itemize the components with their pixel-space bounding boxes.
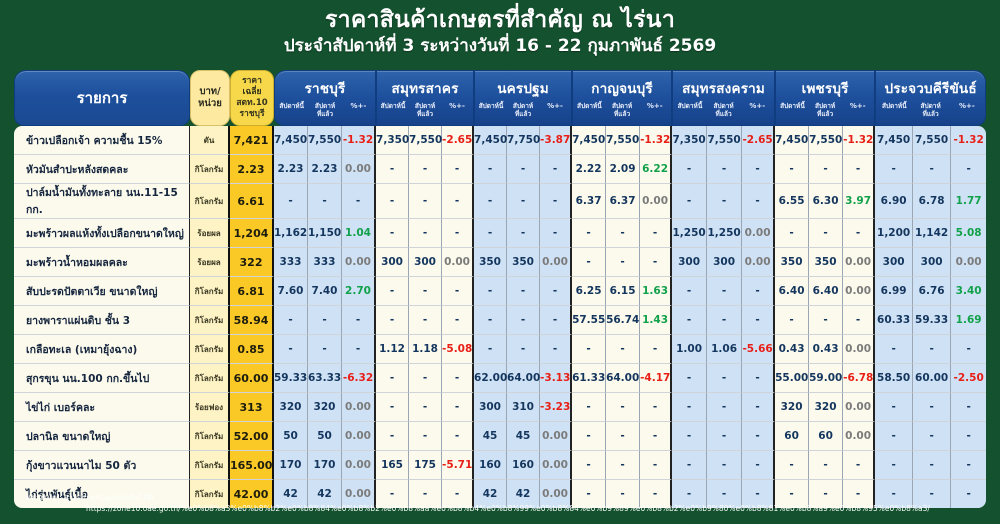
cell-pct-change: -1.32 [640,126,672,155]
cell-last-week: - [707,277,742,306]
pct-value: 3.40 [956,285,982,297]
cell-pct-change: 1.63 [640,277,672,306]
cell-pct-change: 0.00 [342,451,376,480]
cell-last-week: - [308,335,342,364]
cell-pct-change: - [742,422,775,451]
pct-value: - [755,401,759,413]
province-name-0: ราชบุรี [275,71,375,99]
pct-value: - [856,163,860,175]
cell-pct-change: -5.08 [442,335,474,364]
cell-last-week: - [707,155,742,184]
pct-value: -6.78 [843,372,873,384]
subhead-this-week-1: สัปดาห์นี้ [377,102,409,118]
cell-this-week: - [474,277,507,306]
cell-this-week: 7,350 [376,126,409,155]
province-subheads-5: สัปดาห์นี้ สัปดาห์ที่แล้ว %+- [776,102,874,118]
cell-this-week: - [274,184,308,219]
cell-this-week: - [572,248,606,277]
cell-last-week: - [409,306,442,335]
cell-last-week: - [606,219,640,248]
cell-last-week: 300 [409,248,442,277]
footer-note-label: หมายเหตุ : สามารถดูข้อมูลเพิ่มเติมได้ที่ [26,492,153,503]
cell-last-week: 320 [308,393,342,422]
pct-value: - [455,227,459,239]
pct-value: -1.32 [953,134,983,146]
row-average-price: 6.61 [230,184,274,219]
province-subheads-3: สัปดาห์นี้ สัปดาห์ที่แล้ว %+- [573,102,671,118]
pct-value: -4.17 [640,372,670,384]
cell-last-week: - [707,393,742,422]
cell-pct-change: - [951,451,986,480]
cell-last-week: 6.40 [809,277,843,306]
cell-last-week: 59.00 [809,364,843,393]
cell-this-week: 60.33 [875,306,913,335]
cell-this-week: - [474,306,507,335]
header-average-line4: ราชบุรี [231,109,273,120]
cell-last-week: 6.15 [606,277,640,306]
subhead-last-week-6: สัปดาห์ที่แล้ว [912,102,948,118]
pct-value: -5.66 [742,343,772,355]
pct-value: - [653,256,657,268]
header-province-box-2: นครปฐม สัปดาห์นี้ สัปดาห์ที่แล้ว %+- [474,70,572,126]
cell-last-week: 1.18 [409,335,442,364]
pct-value: - [356,314,360,326]
cell-this-week: 59.33 [274,364,308,393]
header-unit-box: บาท/ หน่วย [190,70,230,126]
cell-this-week: - [376,277,409,306]
pct-value: -3.13 [540,372,570,384]
cell-pct-change: 0.00 [951,248,986,277]
table-row: เกลือทะเล (เหมายุ้งฉาง)กิโลกรัม0.85---1.… [14,335,986,364]
cell-last-week: - [707,306,742,335]
cell-last-week: 300 [913,248,951,277]
pct-value: - [856,459,860,471]
cell-pct-change: 3.97 [843,184,875,219]
cell-this-week: 300 [875,248,913,277]
cell-pct-change: - [640,335,672,364]
cell-pct-change: - [442,306,474,335]
cell-this-week: - [875,451,913,480]
pct-value: - [455,430,459,442]
pct-value: - [856,227,860,239]
pct-value: 0.00 [845,343,871,355]
pct-value: - [755,459,759,471]
cell-pct-change: - [442,422,474,451]
cell-this-week: 7,450 [572,126,606,155]
cell-pct-change: 3.40 [951,277,986,306]
cell-this-week: 1.00 [672,335,707,364]
cell-last-week: 1,150 [308,219,342,248]
cell-last-week: 300 [707,248,742,277]
table-row: สุกรขุน นน.100 กก.ขึ้นไปกิโลกรัม60.0059.… [14,364,986,393]
cell-last-week: - [913,422,951,451]
cell-last-week: 0.43 [809,335,843,364]
pct-value: - [653,343,657,355]
subhead-last-week-4: สัปดาห์ที่แล้ว [707,102,741,118]
cell-pct-change: -1.32 [843,126,875,155]
pct-value: - [553,343,557,355]
cell-pct-change: -6.78 [843,364,875,393]
cell-pct-change: - [742,277,775,306]
cell-last-week: - [409,155,442,184]
cell-last-week: - [606,393,640,422]
cell-this-week: - [672,277,707,306]
header-province-0: ราชบุรี สัปดาห์นี้ สัปดาห์ที่แล้ว %+- [274,70,376,126]
cell-this-week: 350 [474,248,507,277]
header-unit: บาท/ หน่วย [190,70,230,126]
pct-value: 0.00 [745,256,771,268]
cell-this-week: 7,450 [274,126,308,155]
price-table-wrapper: รายการ บาท/ หน่วย ราคา เฉลี่ย สตท.10 [14,70,986,488]
header-province-3: กาญจนบุรี สัปดาห์นี้ สัปดาห์ที่แล้ว %+- [572,70,672,126]
pct-value: - [755,430,759,442]
cell-this-week: 50 [274,422,308,451]
cell-pct-change: 0.00 [540,248,572,277]
cell-last-week: 6.37 [606,184,640,219]
footer-note: หมายเหตุ : สามารถดูข้อมูลเพิ่มเติมได้ที่… [26,492,976,514]
cell-last-week: - [409,219,442,248]
header-average: ราคา เฉลี่ย สตท.10 ราชบุรี [230,70,274,126]
pct-value: - [356,195,360,207]
cell-this-week: 6.40 [775,277,809,306]
table-body: ข้าวเปลือกเจ้า ความชื้น 15%ตัน7,4217,450… [14,126,986,508]
pct-value: 0.00 [345,401,371,413]
row-item-label: สุกรขุน นน.100 กก.ขึ้นไป [14,364,190,393]
pct-value: - [653,430,657,442]
cell-this-week: 6.55 [775,184,809,219]
subhead-pct-0: %+- [342,102,375,118]
cell-last-week: 333 [308,248,342,277]
row-unit: ร้อยผล [190,248,230,277]
table-row: สับปะรดปัตตาเวีย ขนาดใหญ่กิโลกรัม6.817.6… [14,277,986,306]
cell-this-week: 1,250 [672,219,707,248]
cell-pct-change: - [442,393,474,422]
cell-pct-change: -3.87 [540,126,572,155]
cell-this-week: - [672,393,707,422]
cell-last-week: 6.78 [913,184,951,219]
row-average-price: 6.81 [230,277,274,306]
cell-this-week: 57.55 [572,306,606,335]
cell-pct-change: -5.66 [742,335,775,364]
cell-this-week: 7,450 [474,126,507,155]
cell-pct-change: - [843,219,875,248]
cell-pct-change: 1.69 [951,306,986,335]
cell-pct-change: 0.00 [442,248,474,277]
pct-value: -6.32 [343,372,373,384]
cell-this-week: 320 [775,393,809,422]
pct-value: - [553,163,557,175]
province-name-5: เพชรบุรี [776,71,874,99]
subhead-last-week-2: สัปดาห์ที่แล้ว [507,102,539,118]
cell-last-week: 320 [809,393,843,422]
table-row: ไข่ไก่ เบอร์คละร้อยฟอง3133203200.00---30… [14,393,986,422]
footer-url[interactable]: https://zone10.oae.go.th/%e0%b8%a3%e0%b8… [86,503,976,514]
cell-this-week: - [875,422,913,451]
pct-value: - [653,227,657,239]
table-row: หัวมันสำปะหลังสดคละกิโลกรัม2.232.232.230… [14,155,986,184]
row-unit: กิโลกรัม [190,306,230,335]
subhead-last-week-3: สัปดาห์ที่แล้ว [606,102,639,118]
cell-pct-change: 0.00 [540,451,572,480]
row-unit: กิโลกรัม [190,277,230,306]
cell-this-week: 7,450 [875,126,913,155]
row-unit: กิโลกรัม [190,184,230,219]
cell-pct-change: - [342,184,376,219]
cell-pct-change: - [843,306,875,335]
pct-value: 0.00 [845,401,871,413]
subhead-this-week-3: สัปดาห์นี้ [573,102,606,118]
cell-last-week: - [809,306,843,335]
cell-this-week: - [875,155,913,184]
pct-value: - [653,401,657,413]
cell-this-week: 300 [672,248,707,277]
cell-this-week: - [376,155,409,184]
cell-this-week: - [875,393,913,422]
row-unit: ร้อยผล [190,219,230,248]
pct-value: - [755,314,759,326]
header-row: รายการ บาท/ หน่วย ราคา เฉลี่ย สตท.10 [14,70,986,126]
subhead-this-week-2: สัปดาห์นี้ [475,102,507,118]
cell-this-week: - [875,335,913,364]
cell-last-week: 56.74 [606,306,640,335]
cell-this-week: 7.60 [274,277,308,306]
pct-value: - [455,372,459,384]
cell-pct-change: - [442,219,474,248]
cell-pct-change: - [640,219,672,248]
cell-last-week: 7,550 [308,126,342,155]
cell-pct-change: - [843,155,875,184]
cell-this-week: - [572,393,606,422]
cell-pct-change: - [342,306,376,335]
cell-pct-change: - [843,451,875,480]
cell-this-week: - [775,219,809,248]
row-unit: ร้อยฟอง [190,393,230,422]
header-unit-line1: บาท/ [191,86,229,98]
header-province-6: ประจวบคีรีขันธ์ สัปดาห์นี้ สัปดาห์ที่แล้… [875,70,986,126]
cell-last-week: - [308,306,342,335]
pct-value: 0.00 [745,227,771,239]
cell-last-week: - [809,155,843,184]
cell-this-week: - [274,335,308,364]
province-name-2: นครปฐม [475,71,571,99]
cell-last-week: 6.30 [809,184,843,219]
row-average-price: 313 [230,393,274,422]
pct-value: 0.00 [345,430,371,442]
pct-value: 0.00 [345,256,371,268]
header-province-4: สมุทรสงคราม สัปดาห์นี้ สัปดาห์ที่แล้ว %+… [672,70,775,126]
cell-this-week: 6.99 [875,277,913,306]
cell-this-week: 160 [474,451,507,480]
cell-pct-change: - [540,155,572,184]
cell-this-week: - [572,219,606,248]
cell-this-week: - [474,219,507,248]
cell-pct-change: - [951,393,986,422]
subhead-pct-6: %+- [949,102,985,118]
pct-value: - [856,314,860,326]
header-province-box-5: เพชรบุรี สัปดาห์นี้ สัปดาห์ที่แล้ว %+- [775,70,875,126]
cell-pct-change: -2.65 [442,126,474,155]
cell-pct-change: - [540,184,572,219]
cell-this-week: - [672,155,707,184]
subhead-this-week-4: สัปดาห์นี้ [673,102,707,118]
pct-value: -2.65 [442,134,472,146]
cell-this-week: 350 [775,248,809,277]
row-item-label: ไข่ไก่ เบอร์คละ [14,393,190,422]
row-average-price: 165.00 [230,451,274,480]
table-row: กุ้งขาวแวนนาไม 50 ตัวกิโลกรัม165.0017017… [14,451,986,480]
cell-this-week: - [672,451,707,480]
row-unit: กิโลกรัม [190,422,230,451]
pct-value: 0.00 [542,430,568,442]
cell-pct-change: 6.22 [640,155,672,184]
pct-value: 0.00 [345,163,371,175]
pct-value: - [966,459,970,471]
subhead-pct-5: %+- [841,102,874,118]
province-subheads-2: สัปดาห์นี้ สัปดาห์ที่แล้ว %+- [475,102,571,118]
pct-value: - [966,430,970,442]
cell-this-week: 1.12 [376,335,409,364]
cell-this-week: - [672,184,707,219]
cell-pct-change: 0.00 [843,248,875,277]
page-title: ราคาสินค้าเกษตรที่สำคัญ ณ ไร่นา [0,6,1000,34]
cell-last-week: - [707,364,742,393]
cell-pct-change: - [951,155,986,184]
pct-value: -1.32 [640,134,670,146]
pct-value: - [553,227,557,239]
cell-last-week: 7,550 [913,126,951,155]
cell-last-week: - [913,393,951,422]
cell-last-week: 64.00 [606,364,640,393]
cell-pct-change: 0.00 [843,393,875,422]
header-province-box-1: สมุทรสาคร สัปดาห์นี้ สัปดาห์ที่แล้ว %+- [376,70,474,126]
cell-pct-change: 0.00 [843,422,875,451]
row-item-label: ปาล์มน้ำมันทั้งทะลาย นน.11-15 กก. [14,184,190,219]
row-item-label: มะพร้าวน้ำหอมผลคละ [14,248,190,277]
title-block: ราคาสินค้าเกษตรที่สำคัญ ณ ไร่นา ประจำสัป… [0,0,1000,58]
pct-value: -2.65 [742,134,772,146]
cell-last-week: - [409,364,442,393]
pct-value: - [966,401,970,413]
cell-pct-change: - [742,155,775,184]
cell-this-week: 300 [376,248,409,277]
province-name-3: กาญจนบุรี [573,71,671,99]
cell-pct-change: 5.08 [951,219,986,248]
pct-value: 1.77 [956,195,982,207]
cell-this-week: - [376,422,409,451]
cell-last-week: - [507,277,540,306]
cell-this-week: 333 [274,248,308,277]
cell-last-week: 170 [308,451,342,480]
cell-this-week: 2.23 [274,155,308,184]
cell-pct-change: - [742,393,775,422]
header-average-box: ราคา เฉลี่ย สตท.10 ราชบุรี [230,70,274,126]
pct-value: -1.32 [343,134,373,146]
cell-last-week: - [707,422,742,451]
row-item-label: มะพร้าวผลแห้งทั้งเปลือกขนาดใหญ่ [14,219,190,248]
cell-pct-change: 1.43 [640,306,672,335]
cell-last-week: 2.23 [308,155,342,184]
pct-value: - [653,459,657,471]
cell-pct-change: - [951,422,986,451]
pct-value: -2.50 [953,372,983,384]
subhead-this-week-6: สัปดาห์นี้ [876,102,912,118]
cell-last-week: 59.33 [913,306,951,335]
cell-last-week: - [707,451,742,480]
cell-last-week: - [809,451,843,480]
cell-last-week: 7,550 [606,126,640,155]
pct-value: - [755,285,759,297]
row-average-price: 0.85 [230,335,274,364]
row-item-label: ปลานิล ขนาดใหญ่ [14,422,190,451]
cell-last-week: 64.00 [507,364,540,393]
cell-pct-change: -4.17 [640,364,672,393]
cell-pct-change: - [540,277,572,306]
header-province-box-3: กาญจนบุรี สัปดาห์นี้ สัปดาห์ที่แล้ว %+- [572,70,672,126]
infographic-page: ราคาสินค้าเกษตรที่สำคัญ ณ ไร่นา ประจำสัป… [0,0,1000,524]
cell-this-week: - [672,306,707,335]
subhead-last-week-1: สัปดาห์ที่แล้ว [409,102,441,118]
header-item: รายการ [14,70,190,126]
subhead-last-week-5: สัปดาห์ที่แล้ว [809,102,842,118]
cell-pct-change: 0.00 [742,248,775,277]
cell-pct-change: -1.32 [951,126,986,155]
pct-value: 0.00 [845,256,871,268]
row-item-label: ยางพาราแผ่นดิบ ชั้น 3 [14,306,190,335]
cell-this-week: - [572,422,606,451]
cell-pct-change: 1.77 [951,184,986,219]
subhead-pct-4: %+- [740,102,774,118]
cell-pct-change: - [442,364,474,393]
cell-this-week: 6.25 [572,277,606,306]
cell-this-week: - [672,422,707,451]
cell-last-week: 6.76 [913,277,951,306]
cell-this-week: - [775,451,809,480]
cell-pct-change: - [640,422,672,451]
cell-pct-change: 0.00 [843,335,875,364]
cell-last-week: 175 [409,451,442,480]
row-item-label: ข้าวเปลือกเจ้า ความชื้น 15% [14,126,190,155]
cell-last-week: - [606,451,640,480]
header-item-label: รายการ [14,70,190,126]
row-unit: ตัน [190,126,230,155]
row-item-label: สับปะรดปัตตาเวีย ขนาดใหญ่ [14,277,190,306]
cell-pct-change: 0.00 [843,277,875,306]
header-province-box-6: ประจวบคีรีขันธ์ สัปดาห์นี้ สัปดาห์ที่แล้… [875,70,986,126]
pct-value: 0.00 [542,256,568,268]
cell-pct-change: -5.71 [442,451,474,480]
pct-value: 1.69 [956,314,982,326]
cell-pct-change: -1.32 [342,126,376,155]
pct-value: 0.00 [642,195,668,207]
cell-this-week: 61.33 [572,364,606,393]
cell-last-week: - [409,184,442,219]
cell-pct-change: 1.04 [342,219,376,248]
cell-last-week: - [507,335,540,364]
pct-value: - [755,163,759,175]
cell-pct-change: - [951,335,986,364]
cell-last-week: - [809,219,843,248]
cell-last-week: - [507,155,540,184]
cell-this-week: - [274,306,308,335]
cell-last-week: 2.09 [606,155,640,184]
row-average-price: 322 [230,248,274,277]
cell-last-week: - [913,155,951,184]
pct-value: - [553,195,557,207]
cell-last-week: - [409,422,442,451]
row-item-label: กุ้งขาวแวนนาไม 50 ตัว [14,451,190,480]
cell-last-week: - [409,393,442,422]
province-name-6: ประจวบคีรีขันธ์ [876,71,985,99]
